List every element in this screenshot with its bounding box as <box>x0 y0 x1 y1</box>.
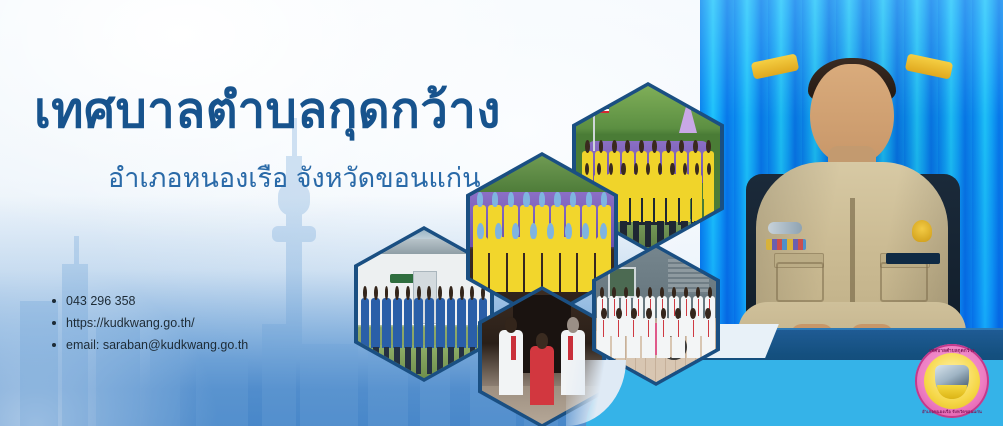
pocket-left <box>776 262 824 302</box>
wing-badge-icon <box>768 222 802 234</box>
page-subtitle: อำเภอหนองเรือ จังหวัดขอนแก่น <box>108 156 481 199</box>
contact-item-website[interactable]: https://kudkwang.go.th/ <box>52 312 248 334</box>
bullet-icon <box>52 321 56 325</box>
ribbon-bar <box>766 239 806 250</box>
bullet-icon <box>52 299 56 303</box>
seal-text-bottom: อำเภอหนองเรือ จังหวัดขอนแก่น <box>915 408 989 415</box>
seal-bowl-icon <box>937 385 967 399</box>
contact-list: 043 296 358 https://kudkwang.go.th/ emai… <box>52 290 248 356</box>
contact-item-phone: 043 296 358 <box>52 290 248 312</box>
contact-website-text[interactable]: https://kudkwang.go.th/ <box>66 312 195 334</box>
name-tag <box>886 253 940 264</box>
epaulette-right <box>905 53 954 79</box>
municipal-seal: เทศบาลตำบลกุดกว้าง อำเภอหนองเรือ จังหวัด… <box>915 344 989 418</box>
page-title: เทศบาลตำบลกุดกว้าง <box>34 86 501 137</box>
contact-phone-text: 043 296 358 <box>66 290 136 312</box>
epaulette-left <box>751 53 800 79</box>
contact-email-text[interactable]: email: saraban@kudkwang.go.th <box>66 334 248 356</box>
portrait-panel <box>700 0 1003 392</box>
seal-inner-disc <box>924 353 980 409</box>
municipality-banner: เทศบาลตำบลกุดกว้าง อำเภอหนองเรือ จังหวัด… <box>0 0 1003 426</box>
bullet-icon <box>52 343 56 347</box>
pocket-right <box>880 262 928 302</box>
contact-item-email[interactable]: email: saraban@kudkwang.go.th <box>52 334 248 356</box>
official-figure <box>738 54 966 354</box>
rank-emblem-icon <box>912 220 932 242</box>
